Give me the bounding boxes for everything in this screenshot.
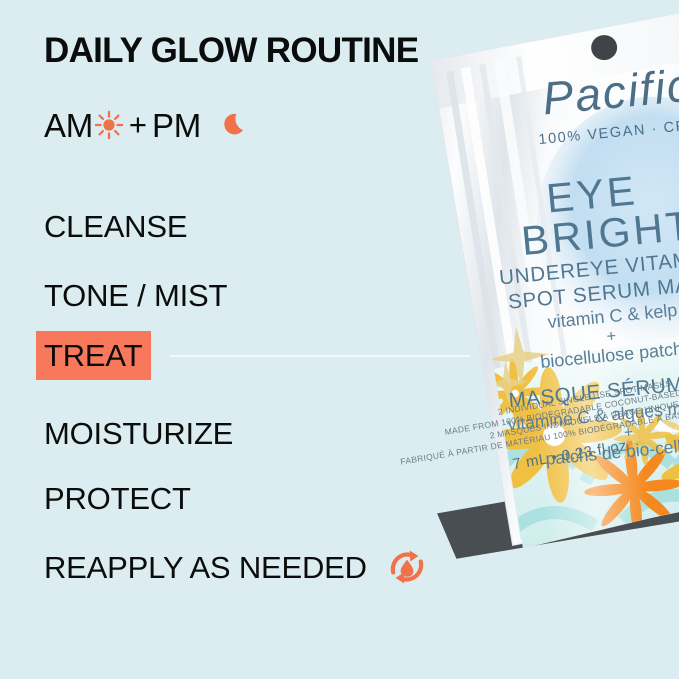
product-ingredients-en-1: vitamin C & kelp (547, 300, 678, 332)
routine-step-protect[interactable]: PROTECT (44, 478, 191, 518)
product-brand: Pacifica (540, 56, 679, 124)
product-name-line2: BRIGHT (519, 202, 679, 264)
product-claims: 100% VEGAN · CRUELTY-FREE (538, 108, 679, 148)
am-pm-row: AM + PM (44, 103, 250, 147)
flower (477, 355, 553, 431)
routine-step-label: TREAT (44, 340, 142, 371)
product-ingredients-fr-plus: + (623, 424, 634, 442)
fineprint-en-2: MADE FROM 100% BIODEGRADABLE COCONUT-BAS… (444, 380, 679, 437)
routine-step-tone-mist[interactable]: TONE / MIST (44, 275, 227, 315)
plus-separator: + (129, 107, 147, 143)
product-descriptor-1: UNDEREYE VITAMIN C (498, 244, 679, 289)
am-label: AM (44, 109, 93, 142)
product-volume: 7 mL • 0.23 fl oz (511, 437, 628, 473)
product-descriptor-2: SPOT SERUM MASK (507, 271, 679, 314)
product-name-line1: EYE (544, 167, 639, 221)
treat-hairline (170, 355, 470, 357)
routine-step-label: TONE / MIST (44, 280, 227, 311)
product-ingredients-fr-1: vitamine C & algues marines bio (507, 391, 679, 435)
page-title: DAILY GLOW ROUTINE (44, 31, 418, 71)
routine-step-treat[interactable]: TREAT (36, 331, 151, 380)
product-name-fr: MASQUE SÉRUM SPOT (508, 367, 679, 413)
package-body: Pacifica 100% VEGAN · CRUELTY-FREE EYE B… (428, 0, 679, 575)
product-ingredients-en-2: biocellulose patches (539, 337, 679, 372)
fineprint-fr-1: 2 MASQUES INDIVIDUELS À USAGE UNIQUE (489, 399, 679, 441)
routine-step-label: MOISTURIZE (44, 418, 233, 449)
routine-step-moisturize[interactable]: MOISTURIZE (44, 413, 233, 453)
hang-hole (590, 34, 618, 61)
sun-icon (94, 110, 124, 140)
pm-label: PM (152, 109, 201, 142)
flower (611, 405, 674, 468)
fineprint-en-1: 2 INDIVIDUAL SINGLE USE SPOT MASKS (497, 378, 672, 417)
poster-canvas: Pacifica 100% VEGAN · CRUELTY-FREE EYE B… (0, 0, 679, 679)
moon-icon (220, 110, 250, 140)
product-ingredients-fr-2: patchs de bio-cellulose (545, 432, 679, 469)
package-fineprint: 2 INDIVIDUAL SINGLE USE SPOT MASKS MADE … (394, 362, 679, 491)
routine-step-label: REAPPLY AS NEEDED (44, 552, 367, 583)
product-ingredients-en-plus: + (606, 328, 617, 346)
package-shadow (434, 451, 679, 560)
fineprint-fr-2: FABRIQUÉ À PARTIR DE MATÉRIAU 100% BIODÉ… (400, 395, 679, 467)
routine-step-cleanse[interactable]: CLEANSE (44, 206, 187, 246)
flower (654, 407, 679, 512)
recycle-droplet-icon (385, 545, 429, 589)
flower (660, 404, 679, 457)
routine-step-reapply[interactable]: REAPPLY AS NEEDED (44, 547, 429, 587)
routine-step-label: CLEANSE (44, 211, 187, 242)
flower (480, 361, 628, 509)
routine-step-label: PROTECT (44, 483, 191, 514)
flower (580, 434, 679, 542)
